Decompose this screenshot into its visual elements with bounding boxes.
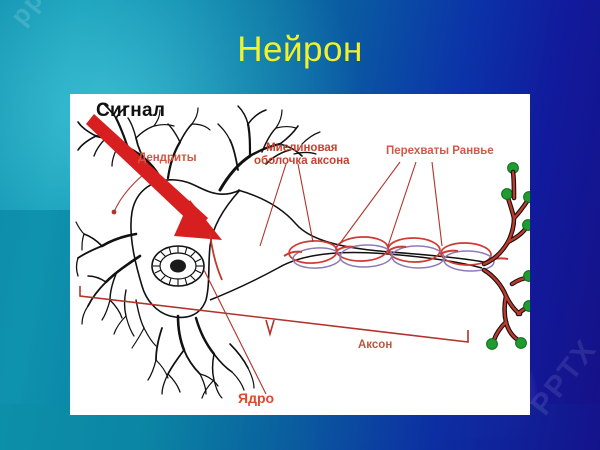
signal-arrow bbox=[86, 114, 222, 280]
slide: ppt.XXX PPTX Нейрон bbox=[0, 0, 600, 450]
axon-bracket bbox=[80, 286, 468, 342]
label-dendrites: Дендриты bbox=[138, 152, 197, 165]
label-nucleus: Ядро bbox=[238, 390, 274, 406]
label-axon: Аксон bbox=[358, 339, 392, 352]
synaptic-terminals bbox=[487, 163, 530, 350]
axon-outline bbox=[210, 190, 484, 300]
label-myelin-line2: оболочка аксона bbox=[254, 155, 350, 168]
label-myelin-line1: Миелиновая bbox=[254, 142, 350, 155]
label-myelin-sheath: Миелиновая оболочка аксона bbox=[254, 142, 350, 168]
nucleus bbox=[152, 246, 204, 286]
page-title: Нейрон bbox=[0, 32, 600, 69]
dendrites-lower bbox=[148, 316, 254, 398]
label-signal: Сигнал bbox=[96, 100, 165, 122]
dendrites-left bbox=[76, 222, 156, 348]
label-ranvier-nodes: Перехваты Ранвье bbox=[386, 145, 494, 158]
neuron-diagram-panel: Сигнал Дендриты Миелиновая оболочка аксо… bbox=[70, 94, 530, 415]
